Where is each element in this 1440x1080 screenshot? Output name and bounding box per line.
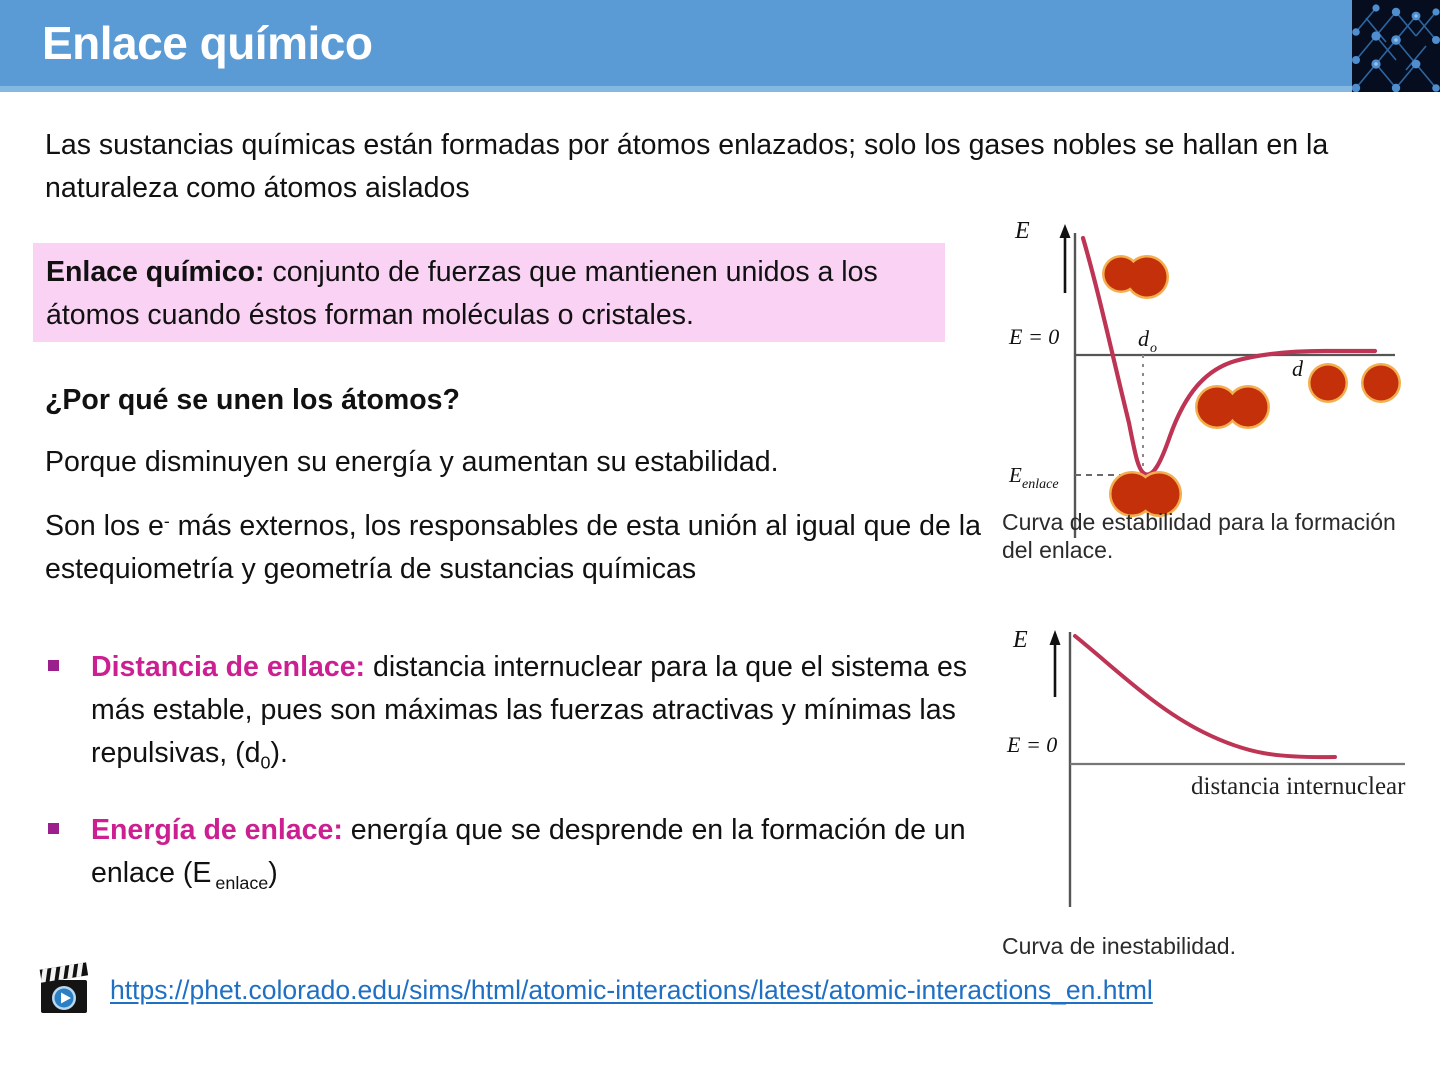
svg-text:enlace: enlace [1022, 477, 1059, 492]
page-title: Enlace químico [42, 10, 372, 76]
instability-curve-figure: E E = 0 distancia internuclear [995, 612, 1415, 962]
instability-curve-caption: Curva de inestabilidad. [1002, 932, 1402, 960]
svg-text:E: E [1012, 627, 1028, 653]
square-bullet-icon [48, 660, 59, 671]
atom-pair-adjacent [1195, 385, 1270, 429]
slide-root: Enlace químico [0, 0, 1440, 1080]
square-bullet-icon [48, 823, 59, 834]
instability-x-axis-label: distancia internuclear [1191, 773, 1406, 800]
bullet-body-part2: ) [268, 857, 278, 889]
atom-pair-overlapping [1102, 255, 1169, 299]
stability-curve-caption: Curva de estabilidad para la formación d… [1002, 508, 1402, 564]
movie-clapperboard-play-icon[interactable] [36, 960, 94, 1020]
bullet-text: Distancia de enlace: distancia internucl… [91, 646, 985, 784]
list-item: Energía de enlace: energía que se despre… [45, 809, 985, 905]
definition-highlight-box: Enlace químico: conjunto de fuerzas que … [33, 243, 945, 342]
electrons-text-post: más externos, los responsables de esta u… [45, 510, 981, 585]
list-item: Distancia de enlace: distancia internucl… [45, 646, 985, 784]
svg-text:E = 0: E = 0 [1006, 732, 1057, 757]
definition-term: Enlace químico: [46, 256, 265, 288]
definition-paragraph: Enlace químico: conjunto de fuerzas que … [46, 251, 931, 337]
phet-simulation-link[interactable]: https://phet.colorado.edu/sims/html/atom… [110, 975, 1153, 1006]
svg-text:d: d [1292, 356, 1304, 381]
svg-text:E: E [1008, 463, 1022, 487]
bullet-body-part2: ). [270, 737, 287, 769]
svg-text:o: o [1150, 341, 1157, 356]
bullet-list: Distancia de enlace: distancia internucl… [45, 646, 985, 930]
svg-text:d: d [1138, 326, 1150, 351]
atom-pair-separated [1308, 363, 1401, 403]
header-underline-strip [0, 86, 1440, 92]
bullet-term: Distancia de enlace: [91, 651, 365, 683]
bullet-subscript: 0 [260, 752, 270, 772]
answer-paragraph: Porque disminuyen su energía y aumentan … [45, 442, 779, 482]
electrons-paragraph: Son los e- más externos, los responsable… [45, 500, 995, 591]
bullet-text: Energía de enlace: energía que se despre… [91, 809, 985, 905]
bullet-term: Energía de enlace: [91, 814, 343, 846]
electrons-text-pre: Son los e [45, 510, 164, 542]
question-heading: ¿Por qué se unen los átomos? [45, 380, 460, 420]
svg-text:E = 0: E = 0 [1008, 324, 1059, 349]
crystal-lattice-image [1352, 0, 1440, 92]
bullet-subscript: enlace [211, 873, 268, 893]
svg-text:E: E [1014, 218, 1030, 244]
footer-link-row[interactable]: https://phet.colorado.edu/sims/html/atom… [36, 960, 1153, 1020]
